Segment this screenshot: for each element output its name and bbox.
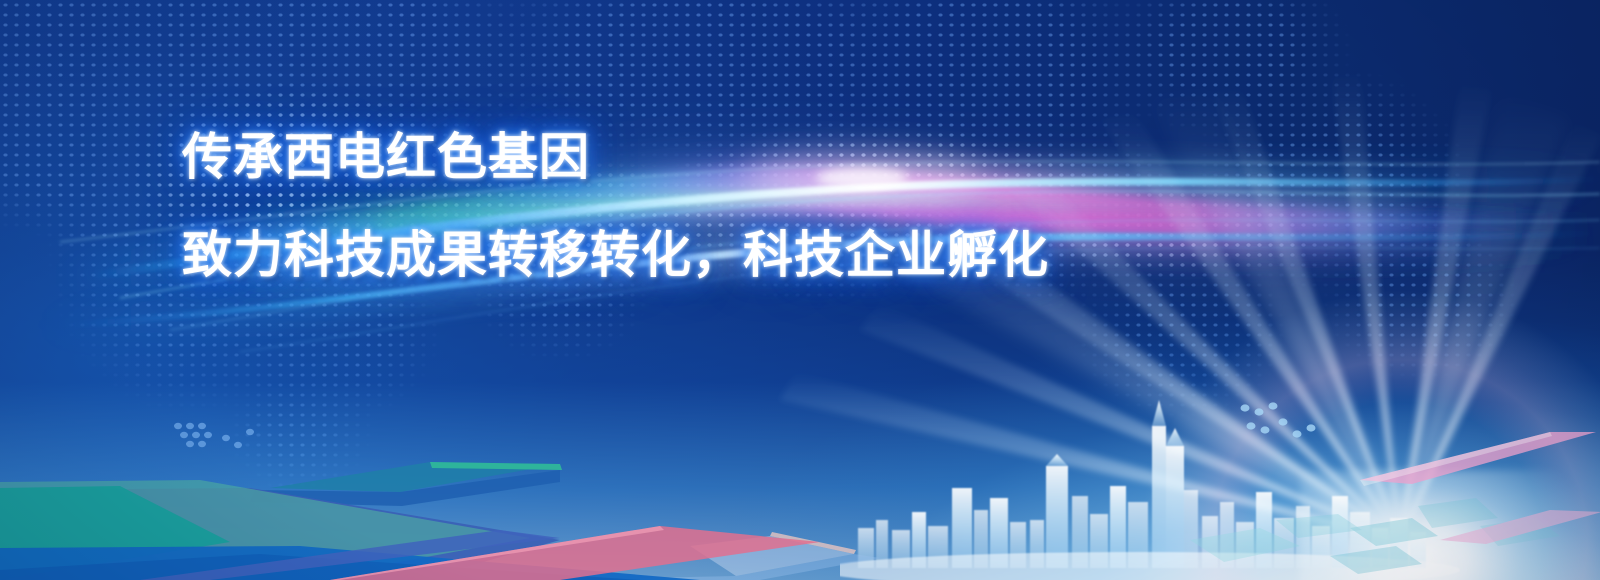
hero-banner: 传承西电红色基因 致力科技成果转移转化，科技企业孵化 bbox=[0, 0, 1600, 580]
headline-line-2: 致力科技成果转移转化，科技企业孵化 bbox=[182, 230, 1049, 280]
headline-block: 传承西电红色基因 致力科技成果转移转化，科技企业孵化 bbox=[182, 132, 1049, 280]
accent-dot-cluster bbox=[170, 420, 280, 480]
headline-line-1: 传承西电红色基因 bbox=[182, 132, 1049, 182]
decorative-polygons-bottom-left bbox=[0, 430, 820, 580]
accent-dot-cluster-right bbox=[1235, 400, 1355, 470]
pink-parallelogram-lower bbox=[1440, 490, 1600, 560]
